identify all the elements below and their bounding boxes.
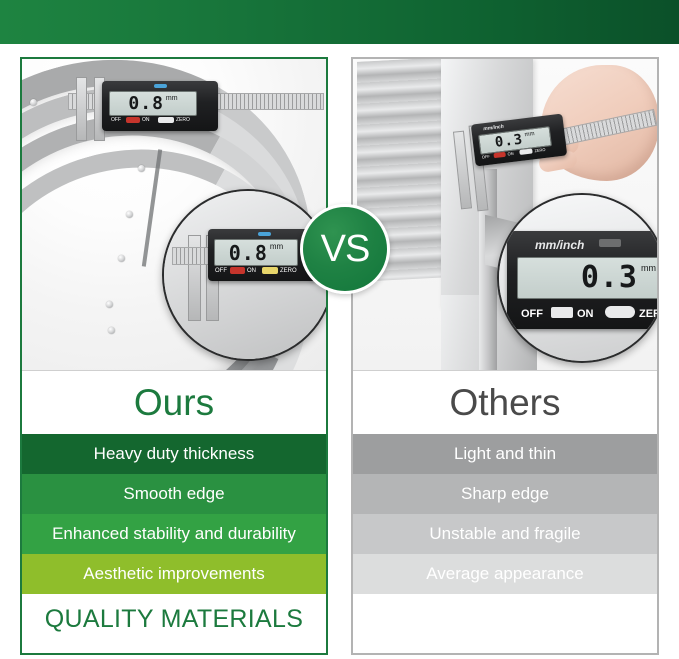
others-heading-text: Others [449,382,560,424]
rivet [106,301,113,308]
others-magnifier-inset: mm/inch 0.3 mm OFF ON ZERO [497,193,657,363]
ours-feature-row: Heavy duty thickness [22,434,326,474]
inset-caliper-unit: mm [641,264,656,273]
inset-caliper-power-switch[interactable] [230,267,245,274]
inset-caliper-zero-button[interactable]: ZERO [639,309,657,320]
ours-feature-label: Aesthetic improvements [83,564,264,584]
ours-product-photo: 0.8 mm OFF ON ZERO 0.8 mm [22,59,326,371]
inset-caliper-zero-switch[interactable] [262,267,278,274]
rivet [108,327,115,334]
inset-caliper-reading: 0.3 [581,263,638,293]
inset-caliper-top-button[interactable] [599,239,621,247]
caliper-head: 0.8 mm OFF ON ZERO [102,81,218,131]
ours-heading-text: Ours [134,382,214,424]
inset-caliper-brand-label: mm/inch [535,238,584,252]
caliper-on-button[interactable]: ON [507,152,513,157]
others-feature-label: Average appearance [426,564,584,584]
ours-magnifier-inset: 0.8 mm OFF ON ZERO [162,189,326,361]
others-feature-row: Sharp edge [353,474,657,514]
caliper-zero-switch[interactable] [158,117,174,123]
inset-caliper-zero-button[interactable]: ZERO [280,268,297,274]
others-feature-label: Light and thin [454,444,556,464]
caliper-unit: mm [524,131,535,138]
caliper-unit: mm [166,95,178,102]
rivet [126,211,133,218]
others-feature-list: Light and thin Sharp edge Unstable and f… [353,434,657,594]
ours-feature-row: Aesthetic improvements [22,554,326,594]
ours-feature-list: Heavy duty thickness Smooth edge Enhance… [22,434,326,594]
inset-caliper-off-button[interactable]: OFF [521,309,543,320]
vs-badge: VS [300,204,390,294]
ours-feature-label: Smooth edge [123,484,224,504]
caliper-zero-switch[interactable] [519,148,533,155]
caliper-off-button[interactable]: OFF [111,118,121,123]
rivet [138,165,145,172]
vs-label: VS [321,228,370,271]
others-feature-row: Light and thin [353,434,657,474]
caliper-power-switch[interactable] [493,152,506,158]
top-green-banner [0,0,679,44]
caliper-top-button[interactable] [154,84,167,88]
caliper-brand-label: mm/inch [483,124,504,132]
caliper-off-button[interactable]: OFF [482,155,490,160]
others-heading: Others [353,371,657,434]
others-panel: mm/inch 0.3 mm OFF ON ZERO mm/inch [351,57,659,655]
caliper-reading: 0.3 [494,133,524,150]
others-footer [353,594,657,644]
rivet [30,99,37,106]
comparison-stage: 0.8 mm OFF ON ZERO 0.8 mm [0,44,679,659]
caliper-reading: 0.8 [128,95,164,113]
caliper-zero-button[interactable]: ZERO [176,118,190,123]
caliper-jaw-fixed [76,77,87,141]
ours-footer: QUALITY MATERIALS [22,594,326,644]
inset-caliper-power-switch[interactable] [551,307,573,318]
ours-feature-row: Smooth edge [22,474,326,514]
ours-footer-text: QUALITY MATERIALS [45,605,303,634]
others-feature-row: Unstable and fragile [353,514,657,554]
caliper-zero-button[interactable]: ZERO [534,148,546,153]
ours-feature-label: Heavy duty thickness [94,444,255,464]
ours-feature-row: Enhanced stability and durability [22,514,326,554]
caliper-on-button[interactable]: ON [142,118,150,123]
ours-heading: Ours [22,371,326,434]
others-feature-label: Sharp edge [461,484,549,504]
rivet [118,255,125,262]
inset-caliper-lcd: 0.8 mm [214,239,298,266]
ours-panel: 0.8 mm OFF ON ZERO 0.8 mm [20,57,328,655]
inset-caliper-off-button[interactable]: OFF [215,268,227,274]
others-feature-label: Unstable and fragile [429,524,580,544]
others-product-photo: mm/inch 0.3 mm OFF ON ZERO mm/inch [353,59,657,371]
inset-caliper-top-button[interactable] [258,232,271,236]
caliper-power-switch[interactable] [126,117,140,123]
inset-caliper-reading: 0.8 [229,243,268,263]
caliper-lcd: 0.8 mm [109,91,197,116]
inset-caliper-unit: mm [270,243,283,251]
inset-caliper-lcd: 0.3 mm [517,257,657,299]
ours-feature-label: Enhanced stability and durability [52,524,296,544]
inset-caliper-zero-switch[interactable] [605,306,635,318]
inset-caliper-head: mm/inch 0.3 mm OFF ON ZERO [507,231,657,329]
inset-caliper-on-button[interactable]: ON [247,268,256,274]
others-feature-row: Average appearance [353,554,657,594]
inset-caliper-on-button[interactable]: ON [577,309,594,320]
